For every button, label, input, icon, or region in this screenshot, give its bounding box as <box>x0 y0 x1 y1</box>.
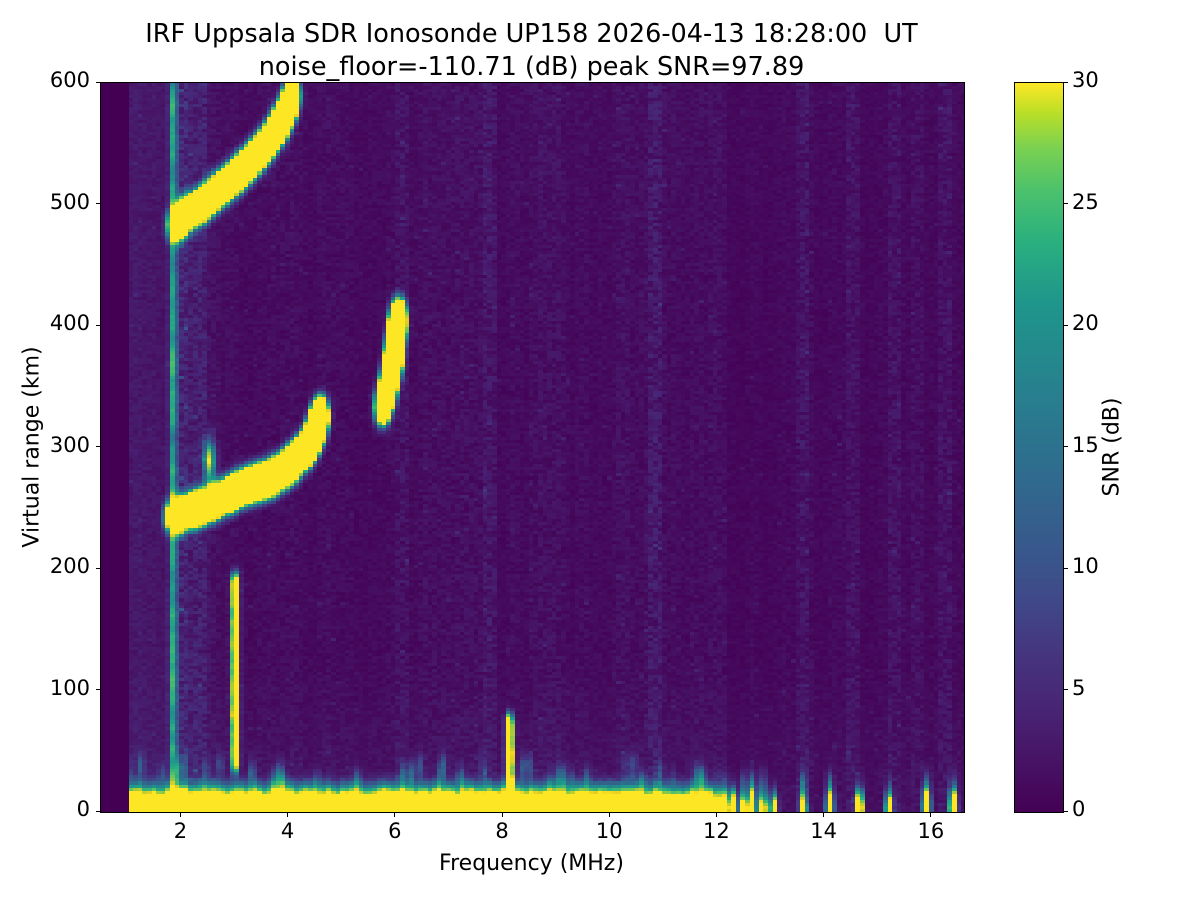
y-tick-label: 0 <box>10 797 90 821</box>
x-tick-label: 16 <box>891 819 971 843</box>
colorbar-label: SNR (dB) <box>1100 397 1125 496</box>
x-tick-label: 10 <box>569 819 649 843</box>
x-tick-mark <box>609 812 610 817</box>
y-tick-mark <box>96 203 101 204</box>
colorbar-tick-mark <box>1063 325 1068 326</box>
y-tick-label: 400 <box>10 311 90 335</box>
ionogram-figure: IRF Uppsala SDR Ionosonde UP158 2026-04-… <box>0 0 1200 900</box>
colorbar-gradient <box>1014 82 1064 813</box>
y-tick-mark <box>96 325 101 326</box>
x-tick-mark <box>823 812 824 817</box>
colorbar-tick-label: 30 <box>1072 68 1099 92</box>
x-tick-mark <box>287 812 288 817</box>
y-tick-label: 500 <box>10 190 90 214</box>
colorbar-tick-mark <box>1063 568 1068 569</box>
colorbar-tick-label: 25 <box>1072 190 1099 214</box>
colorbar-tick-mark <box>1063 203 1068 204</box>
colorbar-tick-label: 0 <box>1072 797 1085 821</box>
x-tick-label: 4 <box>248 819 328 843</box>
colorbar-tick-mark <box>1063 811 1068 812</box>
y-tick-label: 200 <box>10 554 90 578</box>
y-tick-mark <box>96 689 101 690</box>
title-line-1: IRF Uppsala SDR Ionosonde UP158 2026-04-… <box>0 18 1063 51</box>
colorbar-tick-label: 15 <box>1072 433 1099 457</box>
x-tick-mark <box>180 812 181 817</box>
x-tick-mark <box>930 812 931 817</box>
x-axis-label: Frequency (MHz) <box>100 851 963 876</box>
x-tick-label: 6 <box>355 819 435 843</box>
y-tick-label: 600 <box>10 68 90 92</box>
figure-title: IRF Uppsala SDR Ionosonde UP158 2026-04-… <box>0 18 1063 84</box>
y-tick-mark <box>96 568 101 569</box>
y-axis-label: Virtual range (km) <box>20 346 45 547</box>
x-tick-mark <box>716 812 717 817</box>
x-tick-label: 12 <box>676 819 756 843</box>
colorbar-tick-mark <box>1063 82 1068 83</box>
y-tick-label: 100 <box>10 676 90 700</box>
x-tick-label: 8 <box>462 819 542 843</box>
y-tick-mark <box>96 82 101 83</box>
ionogram-heatmap-canvas <box>101 83 964 812</box>
y-tick-mark <box>96 446 101 447</box>
colorbar-tick-label: 10 <box>1072 554 1099 578</box>
x-tick-label: 14 <box>784 819 864 843</box>
x-tick-label: 2 <box>140 819 220 843</box>
x-tick-mark <box>502 812 503 817</box>
colorbar-tick-label: 5 <box>1072 676 1085 700</box>
x-tick-mark <box>394 812 395 817</box>
y-tick-mark <box>96 811 101 812</box>
ionogram-plot-area <box>100 82 965 813</box>
colorbar-tick-label: 20 <box>1072 311 1099 335</box>
colorbar-tick-mark <box>1063 446 1068 447</box>
title-line-2: noise_floor=-110.71 (dB) peak SNR=97.89 <box>0 51 1063 84</box>
colorbar-tick-mark <box>1063 689 1068 690</box>
